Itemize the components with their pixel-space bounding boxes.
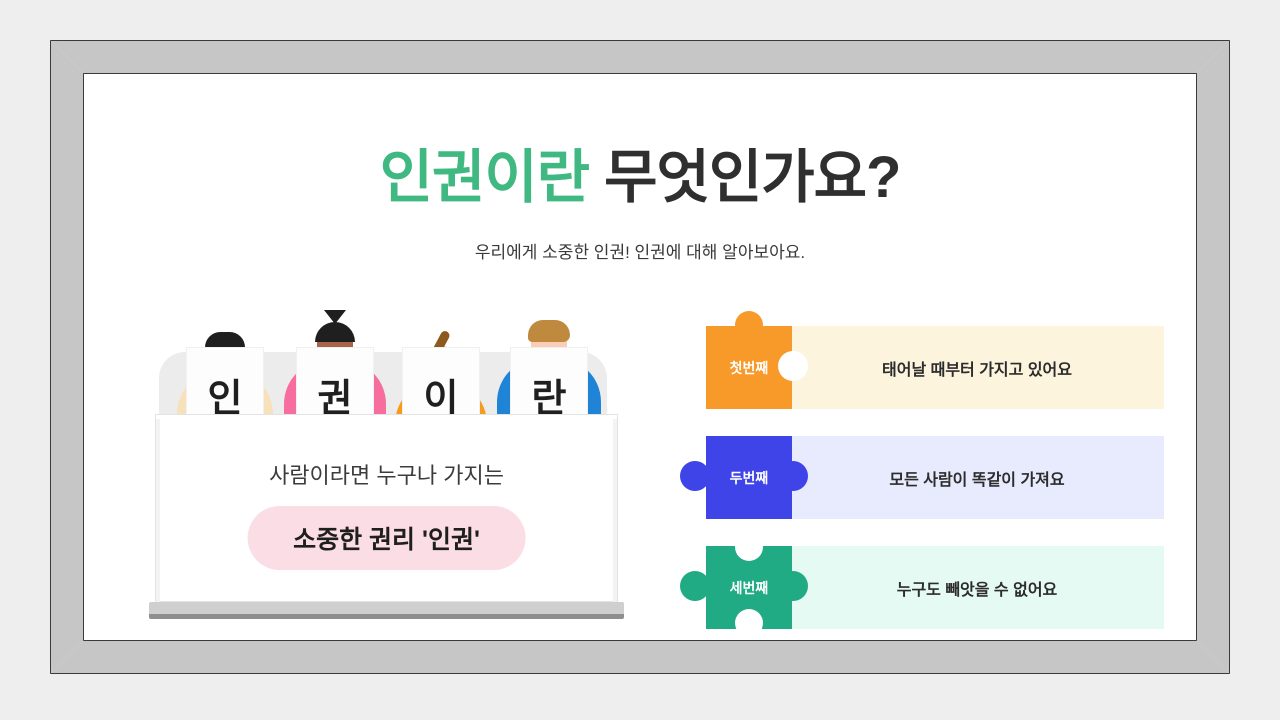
person-hair [205, 332, 245, 349]
puzzle-piece[interactable]: 두번째 [694, 429, 804, 526]
whiteboard-tray [149, 602, 624, 619]
puzzle-row[interactable]: 태어날 때부터 가지고 있어요첫번째 [694, 319, 1164, 416]
puzzle-row-text: 태어날 때부터 가지고 있어요 [882, 356, 1072, 380]
whiteboard-line-1: 사람이라면 누구나 가지는 [149, 458, 624, 490]
puzzle-knob-top [735, 311, 763, 339]
puzzle-piece[interactable]: 첫번째 [694, 319, 804, 416]
puzzle-knob-left [680, 571, 710, 601]
frame-right-edge [1196, 40, 1230, 674]
frame-bottom-edge [50, 640, 1230, 674]
person-hair [315, 322, 355, 342]
puzzle-piece-label: 첫번째 [730, 358, 769, 378]
puzzle-piece-label: 두번째 [730, 468, 769, 488]
frame-top-edge [50, 40, 1230, 74]
puzzle-notch-right [778, 351, 808, 381]
page-title: 인권이란 무엇인가요? [84, 130, 1196, 214]
puzzle-row[interactable]: 누구도 빼앗을 수 없어요세번째 [694, 539, 1164, 636]
puzzle-list: 태어날 때부터 가지고 있어요첫번째모든 사람이 똑같이 가져요두번째누구도 빼… [694, 319, 1164, 640]
person-hair [528, 320, 570, 342]
whiteboard-rail-right [613, 419, 617, 603]
picture-frame: 인권이란 무엇인가요? 우리에게 소중한 인권! 인권에 대해 알아보아요. 인… [50, 40, 1230, 674]
puzzle-notch-bottom [735, 609, 763, 637]
page-title-rest: 무엇인가요? [604, 145, 900, 210]
person-topknot [324, 310, 346, 324]
puzzle-row-text: 모든 사람이 똑같이 가져요 [889, 466, 1064, 490]
whiteboard-highlight-pill: 소중한 권리 '인권' [247, 506, 526, 570]
page-subtitle: 우리에게 소중한 인권! 인권에 대해 알아보아요. [84, 238, 1196, 263]
puzzle-piece-label: 세번째 [730, 578, 769, 598]
puzzle-knob-left [680, 461, 710, 491]
page-title-highlight: 인권이란 [380, 145, 589, 210]
puzzle-row-text: 누구도 빼앗을 수 없어요 [897, 576, 1058, 600]
puzzle-row[interactable]: 모든 사람이 똑같이 가져요두번째 [694, 429, 1164, 526]
slide-canvas: 인권이란 무엇인가요? 우리에게 소중한 인권! 인권에 대해 알아보아요. 인… [84, 74, 1196, 640]
whiteboard-rail-left [156, 419, 160, 603]
whiteboard: 사람이라면 누구나 가지는 소중한 권리 '인권' [149, 414, 624, 619]
frame-left-edge [50, 40, 84, 674]
puzzle-knob-right [778, 461, 808, 491]
puzzle-knob-right [778, 571, 808, 601]
puzzle-notch-top [735, 533, 763, 561]
puzzle-piece[interactable]: 세번째 [694, 539, 804, 636]
